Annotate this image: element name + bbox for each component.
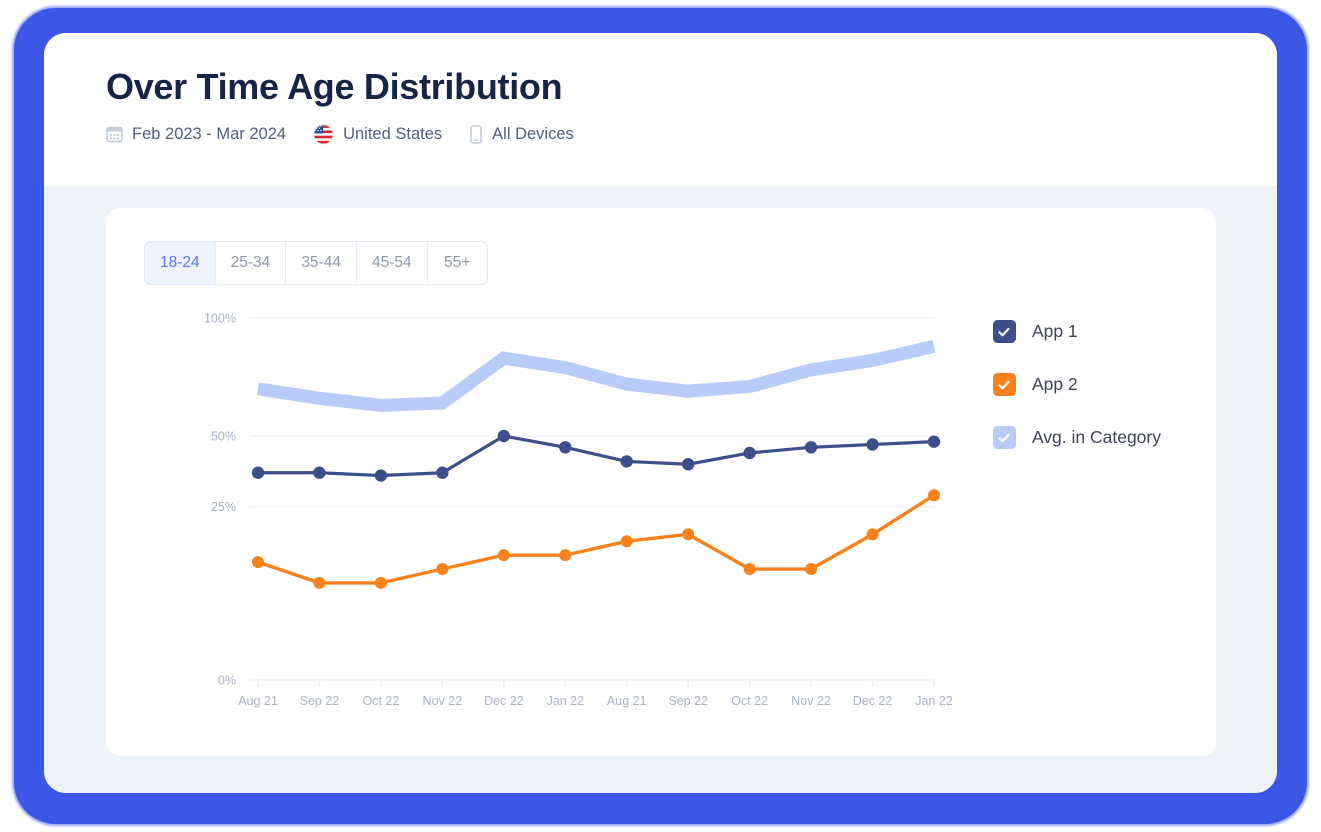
app-frame: Over Time Age Distribution <box>14 8 1307 824</box>
body-area: 18-24 25-34 35-44 45-54 55+ 0%25%50%100%… <box>44 186 1277 793</box>
svg-text:Sep 22: Sep 22 <box>668 694 708 708</box>
chart-legend: App 1 App 2 <box>993 320 1161 449</box>
age-tab-25-34[interactable]: 25-34 <box>215 241 286 285</box>
meta-country-label: United States <box>343 125 442 144</box>
legend-label-avg-in-category: Avg. in Category <box>1032 427 1161 448</box>
svg-text:Dec 22: Dec 22 <box>484 694 524 708</box>
page-title: Over Time Age Distribution <box>106 67 1277 107</box>
svg-text:Jan 22: Jan 22 <box>915 694 953 708</box>
check-icon <box>997 378 1011 392</box>
svg-text:0%: 0% <box>218 674 236 688</box>
svg-text:Oct 22: Oct 22 <box>362 694 399 708</box>
device-icon <box>469 125 483 144</box>
legend-label-app-2: App 2 <box>1032 374 1078 395</box>
header: Over Time Age Distribution <box>44 33 1277 186</box>
series-app-1 <box>252 430 940 482</box>
svg-text:Aug 21: Aug 21 <box>238 694 278 708</box>
age-tab-45-54[interactable]: 45-54 <box>356 241 427 285</box>
meta-devices[interactable]: All Devices <box>469 125 574 144</box>
svg-text:Nov 22: Nov 22 <box>423 694 463 708</box>
legend-item-avg-in-category[interactable]: Avg. in Category <box>993 426 1161 449</box>
svg-text:Oct 22: Oct 22 <box>731 694 768 708</box>
legend-checkbox-app-2[interactable] <box>993 373 1016 396</box>
app-panel: Over Time Age Distribution <box>44 33 1277 793</box>
meta-date-range[interactable]: Feb 2023 - Mar 2024 <box>106 125 286 144</box>
meta-devices-label: All Devices <box>492 125 574 144</box>
svg-text:Dec 22: Dec 22 <box>853 694 893 708</box>
chart-y-axis-ticks: 0%25%50%100% <box>204 312 236 688</box>
svg-text:25%: 25% <box>211 500 236 514</box>
legend-checkbox-app-1[interactable] <box>993 320 1016 343</box>
us-flag-icon <box>313 124 334 145</box>
check-icon <box>997 325 1011 339</box>
age-tab-55-plus[interactable]: 55+ <box>427 241 488 285</box>
svg-text:Sep 22: Sep 22 <box>300 694 340 708</box>
svg-text:100%: 100% <box>204 312 236 326</box>
svg-text:Aug 21: Aug 21 <box>607 694 647 708</box>
age-range-tabs: 18-24 25-34 35-44 45-54 55+ <box>144 241 488 285</box>
meta-row: Feb 2023 - Mar 2024 <box>106 124 1277 145</box>
series-avg-in-category <box>258 346 934 405</box>
meta-country[interactable]: United States <box>313 124 442 145</box>
legend-item-app-1[interactable]: App 1 <box>993 320 1161 343</box>
svg-text:Jan 22: Jan 22 <box>547 694 585 708</box>
legend-item-app-2[interactable]: App 2 <box>993 373 1161 396</box>
chart-card: 18-24 25-34 35-44 45-54 55+ 0%25%50%100%… <box>106 208 1216 756</box>
check-icon <box>997 431 1011 445</box>
svg-text:Nov 22: Nov 22 <box>791 694 831 708</box>
calendar-icon <box>106 125 123 143</box>
meta-date-range-label: Feb 2023 - Mar 2024 <box>132 125 286 144</box>
series-app-2 <box>252 489 940 589</box>
legend-checkbox-avg-in-category[interactable] <box>993 426 1016 449</box>
legend-label-app-1: App 1 <box>1032 321 1078 342</box>
age-tab-18-24[interactable]: 18-24 <box>144 241 215 285</box>
age-tab-35-44[interactable]: 35-44 <box>285 241 356 285</box>
svg-text:50%: 50% <box>211 430 236 444</box>
chart-x-axis-ticks: Aug 21Sep 22Oct 22Nov 22Dec 22Jan 22Aug … <box>238 680 953 708</box>
